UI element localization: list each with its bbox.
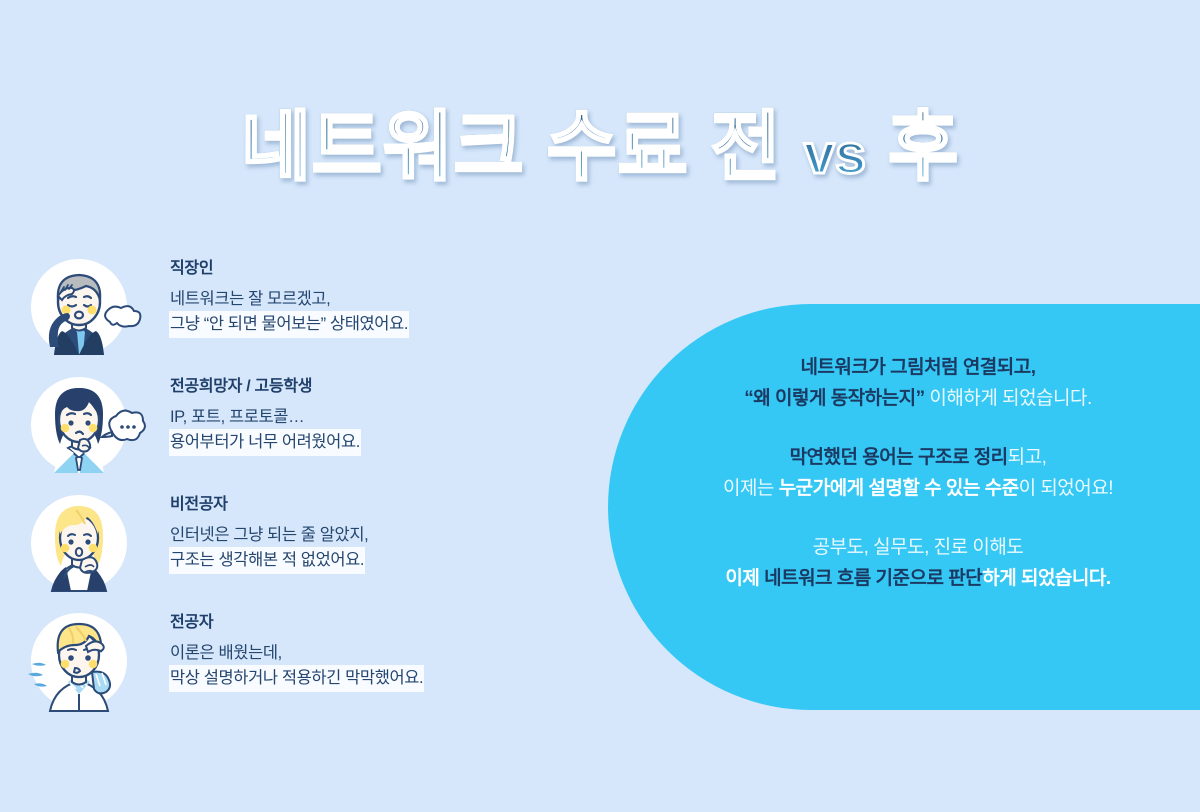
before-line-1: 네트워크는 잘 모르겠고, xyxy=(170,287,570,312)
before-name: 비전공자 xyxy=(170,494,570,516)
before-text-block: 전공자 이론은 배웠는데, 막상 설명하거나 적용하긴 막막했어요. xyxy=(170,612,570,691)
after-line: 공부도, 실무도, 진로 이해도 xyxy=(668,532,1168,563)
after-text: 이제는 xyxy=(723,478,779,499)
before-name: 직장인 xyxy=(170,258,570,280)
after-panel: 네트워크가 그림처럼 연결되고, “왜 이렇게 동작하는지” 이해하게 되었습니… xyxy=(608,304,1200,710)
before-name: 전공희망자 / 고등학생 xyxy=(170,376,570,398)
after-text: 이해하게 되었습니다. xyxy=(925,388,1092,409)
before-line-2: 막상 설명하거나 적용하긴 막막했어요. xyxy=(170,666,423,691)
after-line: 막연했던 용어는 구조로 정리되고, xyxy=(668,442,1168,473)
after-block: 공부도, 실무도, 진로 이해도 이제 네트워크 흐름 기준으로 판단하게 되었… xyxy=(668,532,1168,594)
office-worker-gray-hair-avatar xyxy=(24,252,154,362)
before-line-2: 용어부터가 너무 어려웠어요. xyxy=(170,430,360,455)
blonde-student-boy-avatar xyxy=(24,606,154,716)
title-text: 네트워크 수료 전 vs 후 xyxy=(241,96,959,206)
after-content: 네트워크가 그림처럼 연결되고, “왜 이렇게 동작하는지” 이해하게 되었습니… xyxy=(668,352,1168,594)
title-vs: vs xyxy=(804,122,866,185)
list-item: 비전공자 인터넷은 그냥 되는 줄 알았지, 구조는 생각해본 적 없었어요. xyxy=(24,488,584,606)
before-line-1: 인터넷은 그냥 되는 줄 알았지, xyxy=(170,523,570,548)
after-block: 네트워크가 그림처럼 연결되고, “왜 이렇게 동작하는지” 이해하게 되었습니… xyxy=(668,352,1168,414)
after-text: 이제 xyxy=(725,568,764,589)
blonde-woman-avatar xyxy=(24,488,154,598)
list-item: 직장인 네트워크는 잘 모르겠고, 그냥 “안 되면 물어보는” 상태였어요. xyxy=(24,252,584,370)
after-text: 하게 되었습니다. xyxy=(982,568,1110,589)
before-text-block: 비전공자 인터넷은 그냥 되는 줄 알았지, 구조는 생각해본 적 없었어요. xyxy=(170,494,570,573)
after-line: 네트워크가 그림처럼 연결되고, xyxy=(668,352,1168,383)
list-item: 전공희망자 / 고등학생 IP, 포트, 프로토콜… 용어부터가 너무 어려웠어… xyxy=(24,370,584,488)
after-emphasis: 누군가에게 설명할 수 있는 수준 xyxy=(779,478,1019,499)
after-text: 이 되었어요! xyxy=(1019,478,1113,499)
after-emphasis: “왜 이렇게 동작하는지” xyxy=(744,388,924,409)
after-emphasis: 네트워크가 그림처럼 연결 xyxy=(800,357,996,378)
list-item: 전공자 이론은 배웠는데, 막상 설명하거나 적용하긴 막막했어요. xyxy=(24,606,584,724)
before-text-block: 전공희망자 / 고등학생 IP, 포트, 프로토콜… 용어부터가 너무 어려웠어… xyxy=(170,376,570,455)
title-main: 네트워크 수료 전 xyxy=(241,105,782,190)
title-after: 후 xyxy=(888,105,959,190)
after-emphasis: 네트워크 흐름 기준으로 판단 xyxy=(764,568,982,589)
before-list: 직장인 네트워크는 잘 모르겠고, 그냥 “안 되면 물어보는” 상태였어요. xyxy=(24,252,584,724)
page-title: 네트워크 수료 전 vs 후 xyxy=(0,96,1200,206)
after-emphasis-tail: 되고, xyxy=(997,357,1036,378)
after-emphasis: 막연했던 용어는 구조로 정리 xyxy=(790,447,1008,468)
before-line-2: 그냥 “안 되면 물어보는” 상태였어요. xyxy=(170,312,408,337)
after-line: 이제는 누군가에게 설명할 수 있는 수준이 되었어요! xyxy=(668,473,1168,504)
before-line-1: IP, 포트, 프로토콜… xyxy=(170,405,570,430)
after-line: 이제 네트워크 흐름 기준으로 판단하게 되었습니다. xyxy=(668,563,1168,594)
after-line: “왜 이렇게 동작하는지” 이해하게 되었습니다. xyxy=(668,383,1168,414)
after-text: 되고, xyxy=(1008,447,1047,468)
before-line-1: 이론은 배웠는데, xyxy=(170,641,570,666)
before-line-2: 구조는 생각해본 적 없었어요. xyxy=(170,548,364,573)
before-text-block: 직장인 네트워크는 잘 모르겠고, 그냥 “안 되면 물어보는” 상태였어요. xyxy=(170,258,570,337)
before-name: 전공자 xyxy=(170,612,570,634)
after-block: 막연했던 용어는 구조로 정리되고, 이제는 누군가에게 설명할 수 있는 수준… xyxy=(668,442,1168,504)
high-school-girl-avatar xyxy=(24,370,154,480)
